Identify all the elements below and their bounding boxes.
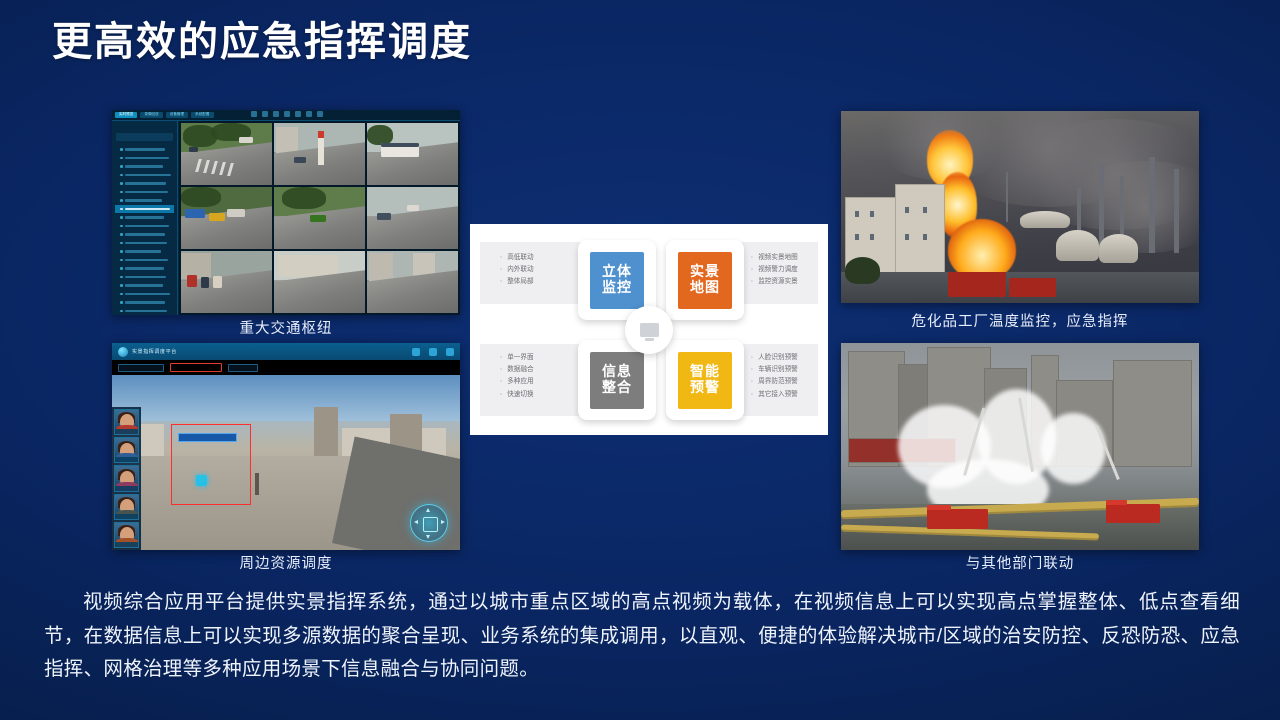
video-tile[interactable]	[367, 187, 458, 249]
diagram-hub	[625, 306, 673, 354]
ptz-compass-control[interactable]	[410, 504, 448, 542]
face-thumbnail[interactable]	[114, 465, 139, 491]
vms-tab-devices[interactable]: 设备管理	[166, 112, 188, 118]
diagram-tile-integration[interactable]: 信息 整合	[590, 352, 644, 409]
face-capture-panel[interactable]	[112, 407, 141, 550]
diagram-tile-monitor[interactable]: 立体 监控	[590, 252, 644, 309]
diagram-tile-realmap[interactable]: 实景 地图	[678, 252, 732, 309]
ptz-up-arrow-icon[interactable]	[426, 508, 430, 512]
bullet-item: 视频警力调度	[751, 264, 798, 276]
screenshot-resource-dispatch: 实景指挥调度平台	[112, 343, 460, 550]
pano-header-actions[interactable]	[412, 348, 454, 356]
vms-tree-item[interactable]	[115, 264, 174, 273]
vms-tree-item[interactable]	[115, 196, 174, 205]
vms-tree-item[interactable]	[115, 154, 174, 163]
vms-tree-item[interactable]	[115, 307, 174, 316]
vms-tree-item[interactable]	[115, 188, 174, 197]
vms-tree-item[interactable]	[115, 281, 174, 290]
page-title: 更高效的应急指挥调度	[52, 18, 472, 66]
vms-tree-item[interactable]	[115, 290, 174, 299]
bullet-item: 高低联动	[500, 252, 534, 264]
bullet-item: 单一界面	[500, 352, 534, 364]
tile-label-line1: 智能	[690, 364, 720, 380]
vms-tree-header	[116, 133, 173, 141]
dispatch-icon[interactable]	[446, 348, 454, 356]
bullet-item: 监控资源实景	[751, 276, 798, 288]
tile-label-line1: 信息	[602, 364, 632, 380]
tile-label-line1: 立体	[602, 264, 632, 280]
bullet-item: 车辆识别预警	[751, 364, 798, 376]
bullets-smartalert: 人脸识别预警 车辆识别预警 周界防范预警 其它接入预警	[751, 352, 798, 401]
body-paragraph: 视频综合应用平台提供实景指挥系统，通过以城市重点区域的高点视频为载体，在视频信息…	[44, 586, 1240, 687]
bullet-item: 多种应用	[500, 376, 534, 388]
caption-resource-dispatch: 周边资源调度	[112, 552, 460, 573]
vms-tree-item-selected[interactable]	[115, 205, 174, 214]
bullets-integration: 单一界面 数据融合 多种应用 快速切换	[500, 352, 534, 401]
alarm-icon[interactable]	[412, 348, 420, 356]
ptz-right-arrow-icon[interactable]	[441, 520, 445, 524]
caption-chemical-plant: 危化品工厂温度监控，应急指挥	[841, 310, 1199, 331]
slide-root: 更高效的应急指挥调度 实时预览 录像回放 设备管理 系统配置	[0, 0, 1280, 720]
video-tile[interactable]	[274, 251, 365, 313]
tile-label-line1: 实景	[690, 264, 720, 280]
vms-tabbar: 实时预览 录像回放 设备管理 系统配置	[112, 110, 460, 121]
audio-icon[interactable]	[295, 111, 301, 117]
vms-tree-item[interactable]	[115, 145, 174, 154]
ptz-down-arrow-icon[interactable]	[426, 535, 430, 539]
vms-tab-live[interactable]: 实时预览	[115, 112, 137, 118]
caption-traffic-hub: 重大交通枢纽	[112, 317, 460, 338]
face-thumbnail[interactable]	[114, 494, 139, 520]
photo-chemical-plant-fire	[841, 111, 1199, 303]
vms-tree-item[interactable]	[115, 213, 174, 222]
video-tile[interactable]	[367, 123, 458, 185]
vms-tree-item[interactable]	[115, 230, 174, 239]
diagram-card-realmap[interactable]: 实景 地图	[666, 240, 744, 320]
vms-tab-replay[interactable]: 录像回放	[140, 112, 162, 118]
vms-tree-item[interactable]	[115, 239, 174, 248]
diagram-tile-smartalert[interactable]: 智能 预警	[678, 352, 732, 409]
tile-label-line2: 地图	[690, 280, 720, 296]
fullscreen-icon[interactable]	[262, 111, 268, 117]
video-tile[interactable]	[274, 123, 365, 185]
vms-tree-item[interactable]	[115, 256, 174, 265]
detection-label-tag	[178, 433, 237, 442]
bullet-item: 其它接入预警	[751, 389, 798, 401]
pano-active-filter[interactable]	[170, 363, 222, 372]
vms-tab-config[interactable]: 系统配置	[191, 112, 213, 118]
video-tile[interactable]	[181, 123, 272, 185]
capability-diagram: 高低联动 内外联动 整体局部 视频实景地图 视频警力调度 监控资源实景 单一界面…	[470, 224, 828, 435]
grid-layout-icon[interactable]	[251, 111, 257, 117]
bullet-item: 视频实景地图	[751, 252, 798, 264]
pano-header: 实景指挥调度平台	[112, 343, 460, 360]
map-marker-icon[interactable]	[196, 475, 207, 486]
bullet-item: 人脸识别预警	[751, 352, 798, 364]
ptz-icon[interactable]	[306, 111, 312, 117]
screenshot-traffic-hub-vms: 实时预览 录像回放 设备管理 系统配置	[112, 110, 460, 315]
bullets-realmap: 视频实景地图 视频警力调度 监控资源实景	[751, 252, 798, 289]
bullet-item: 内外联动	[500, 264, 534, 276]
pano-search-bar[interactable]	[112, 360, 460, 375]
bullets-monitor: 高低联动 内外联动 整体局部	[500, 252, 534, 289]
video-tile[interactable]	[181, 187, 272, 249]
photo-multi-agency-firefighting	[841, 343, 1199, 550]
video-tile[interactable]	[181, 251, 272, 313]
face-thumbnail[interactable]	[114, 522, 139, 548]
video-tile[interactable]	[274, 187, 365, 249]
vms-device-tree[interactable]	[112, 121, 178, 315]
bullet-item: 数据融合	[500, 364, 534, 376]
pano-search-input[interactable]	[228, 364, 258, 372]
control-icon[interactable]	[429, 348, 437, 356]
bullet-item: 快速切换	[500, 389, 534, 401]
vms-video-grid[interactable]	[179, 121, 460, 315]
snapshot-icon[interactable]	[273, 111, 279, 117]
tile-label-line2: 整合	[602, 380, 632, 396]
tile-label-line2: 监控	[602, 280, 632, 296]
video-tile[interactable]	[367, 251, 458, 313]
pano-live-view[interactable]	[112, 375, 460, 550]
fire-truck	[1106, 504, 1160, 523]
bullet-item: 整体局部	[500, 276, 534, 288]
ptz-left-arrow-icon[interactable]	[414, 520, 418, 524]
tile-label-line2: 预警	[690, 380, 720, 396]
vms-tree-item[interactable]	[115, 273, 174, 282]
caption-multi-agency: 与其他部门联动	[841, 552, 1199, 573]
vms-tree-item[interactable]	[115, 171, 174, 180]
monitor-icon	[640, 323, 659, 337]
vms-tree-item[interactable]	[115, 222, 174, 231]
fire-truck	[927, 509, 988, 530]
vms-tree-item[interactable]	[115, 247, 174, 256]
face-thumbnail[interactable]	[114, 409, 139, 435]
diagram-card-smartalert[interactable]: 智能 预警	[666, 340, 744, 420]
pano-app-title: 实景指挥调度平台	[132, 348, 177, 355]
settings-icon[interactable]	[317, 111, 323, 117]
vms-tree-item[interactable]	[115, 162, 174, 171]
vms-tree-item[interactable]	[115, 298, 174, 307]
vms-tree-item[interactable]	[115, 179, 174, 188]
vms-toolbar-icons[interactable]	[251, 111, 323, 117]
record-icon[interactable]	[284, 111, 290, 117]
app-logo-icon	[118, 347, 128, 357]
bullet-item: 周界防范预警	[751, 376, 798, 388]
face-thumbnail[interactable]	[114, 437, 139, 463]
pano-filter-select[interactable]	[118, 364, 164, 372]
